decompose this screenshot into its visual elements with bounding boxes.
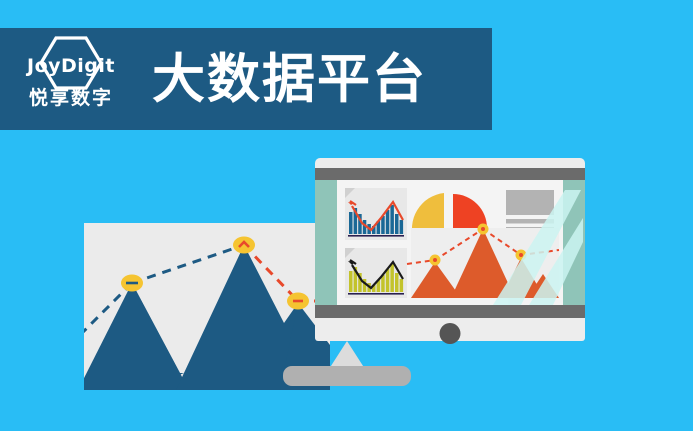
desktop-monitor <box>315 158 585 341</box>
logo-wordmark: JoyDigit <box>27 57 115 76</box>
bar-chart-card-olive <box>345 248 407 298</box>
monitor-stand-neck <box>329 341 365 369</box>
header-banner: JoyDigit 悦享数字 大数据平台 <box>0 28 492 130</box>
trend-dash-left-b <box>132 245 244 283</box>
bar-chart-card-blue <box>345 188 407 240</box>
screen-left-accent <box>315 180 337 305</box>
data-point-marker <box>121 237 309 310</box>
monitor-screen <box>315 180 585 305</box>
monitor-bottom-bezel <box>315 305 585 318</box>
mountain-line-chart-panel <box>84 223 330 390</box>
brand-logo: JoyDigit 悦享数字 <box>12 33 130 125</box>
page-title: 大数据平台 <box>152 53 427 106</box>
monitor-top-bezel <box>315 168 585 180</box>
logo-subtitle: 悦享数字 <box>29 89 113 108</box>
illustration-canvas: JoyDigit 悦享数字 大数据平台 <box>0 0 693 431</box>
monitor-camera-dot <box>440 323 461 344</box>
monitor-stand-base <box>283 366 411 386</box>
